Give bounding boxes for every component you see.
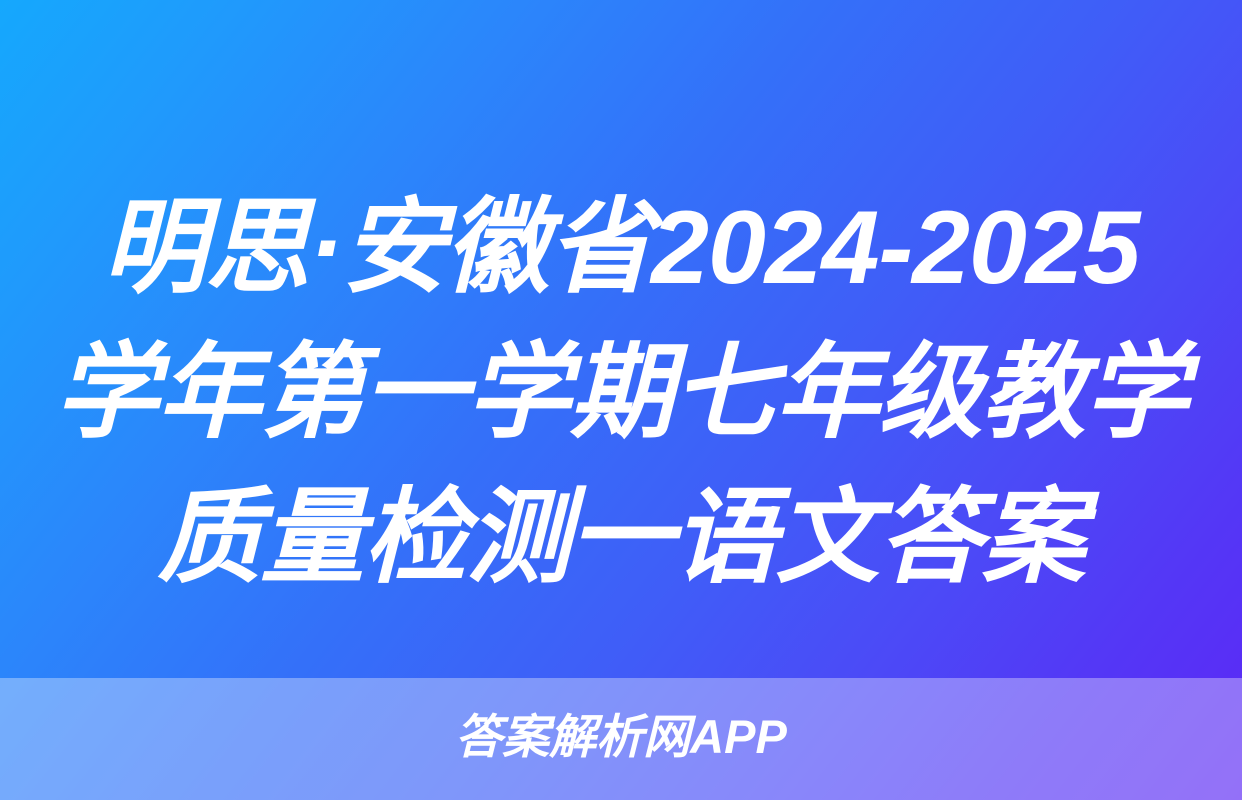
watermark-brand-label: 答案解析网APP [0,706,1242,768]
poster-canvas: 明思·安徽省2024-2025 学年第一学期七年级教学 质量检测一语文答案 答案… [0,0,1242,800]
title-line-2: 学年第一学期七年级教学 [40,321,1202,466]
poster-title: 明思·安徽省2024-2025 学年第一学期七年级教学 质量检测一语文答案 [0,176,1242,611]
title-line-3: 质量检测一语文答案 [40,466,1202,611]
title-line-1: 明思·安徽省2024-2025 [40,176,1202,321]
